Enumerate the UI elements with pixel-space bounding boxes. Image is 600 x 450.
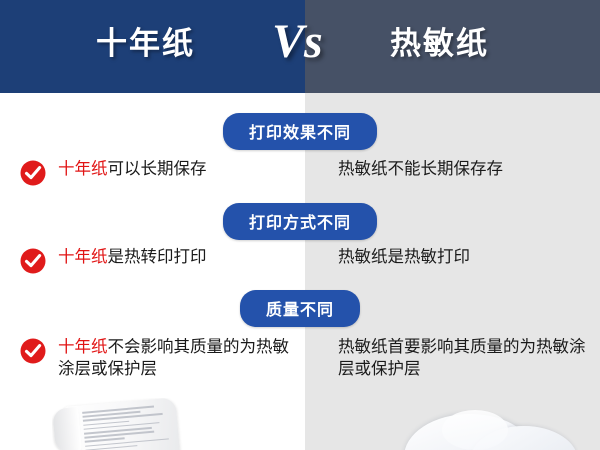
section-badge-quality: 质量不同 [240, 290, 360, 327]
row-3-left-text: 十年纸不会影响其质量的为热敏涂层或保护层 [58, 336, 298, 380]
row-1-left-rest: 可以长期保存 [108, 160, 207, 178]
section-badge-print-method: 打印方式不同 [223, 203, 377, 240]
check-circle-icon [20, 338, 46, 364]
check-circle-icon [20, 248, 46, 274]
row-2-left-highlight: 十年纸 [58, 248, 108, 266]
row-2-left-rest: 是热转印打印 [108, 248, 207, 266]
header-left-title: 十年纸 [96, 22, 195, 66]
comparison-poster: 十年纸 热敏纸 Vs 打印效果不同 十年纸可以长期保存 热敏纸不能长期保存存 打… [0, 0, 600, 450]
poster-header: 十年纸 热敏纸 Vs [0, 0, 600, 93]
vs-label: Vs [272, 12, 323, 72]
receipt-paper-curl [52, 407, 82, 450]
row-2-right-text: 热敏纸是热敏打印 [338, 246, 588, 268]
row-2-left-text: 十年纸是热转印打印 [58, 246, 298, 268]
receipt-printed-lines [82, 404, 172, 450]
row-1-left-highlight: 十年纸 [58, 160, 108, 178]
header-right-title: 热敏纸 [390, 22, 489, 66]
row-1-left-text: 十年纸可以长期保存 [58, 158, 298, 180]
row-3-right-text: 热敏纸首要影响其质量的为热敏涂层或保护层 [338, 336, 588, 380]
receipt-paper-photo [52, 398, 184, 450]
check-circle-icon [20, 160, 46, 186]
row-1-right-text: 热敏纸不能长期保存存 [338, 158, 588, 180]
row-3-left-highlight: 十年纸 [58, 338, 108, 356]
paper-roll-highlight [442, 410, 508, 450]
section-badge-print-effect: 打印效果不同 [223, 113, 377, 150]
thermal-paper-rolls-photo [398, 404, 578, 450]
